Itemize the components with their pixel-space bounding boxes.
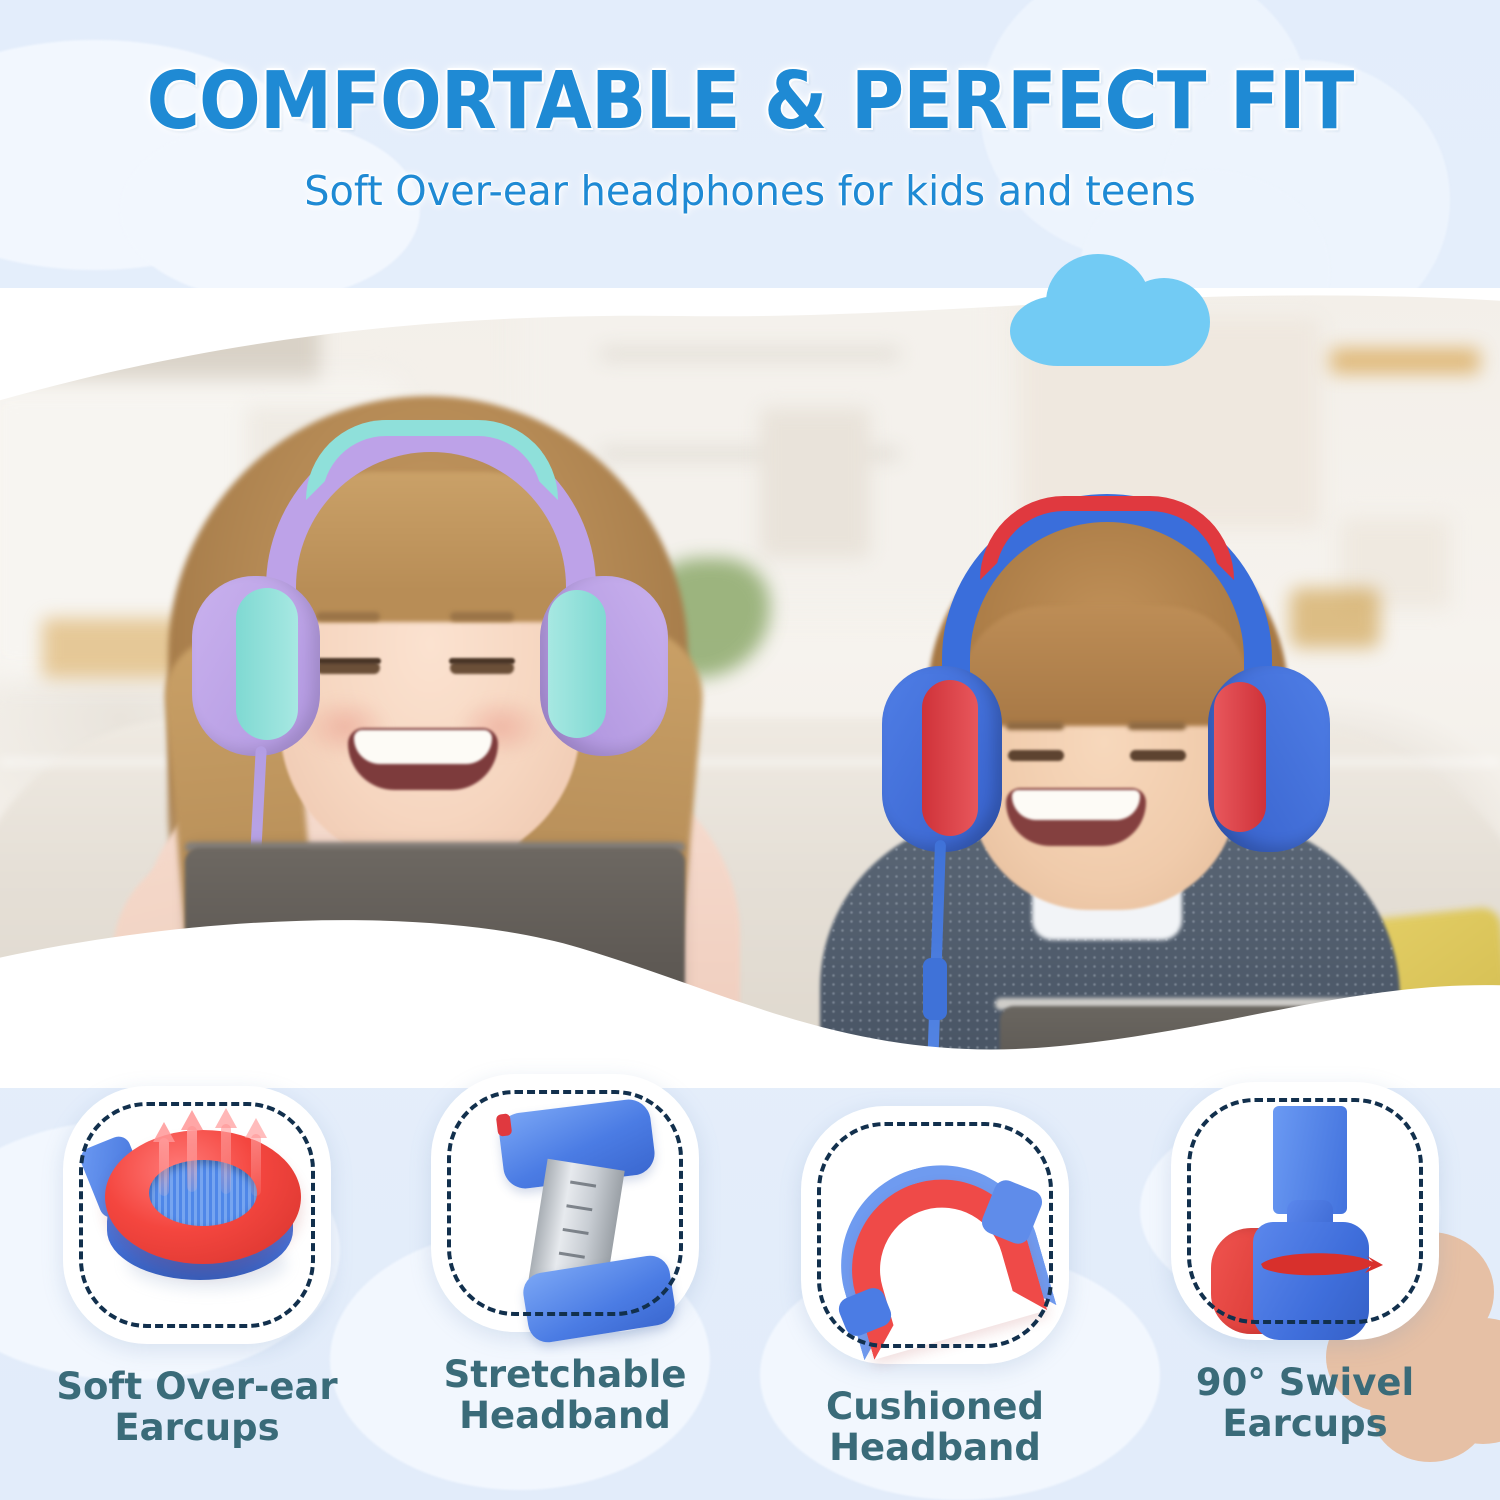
page-subtitle: Soft Over-ear headphones for kids and te… (23, 141, 1478, 215)
feature-item-stretchable-headband: Stretchable Headband (400, 1074, 730, 1437)
feature-label: Stretchable Headband (400, 1354, 730, 1437)
boy-headphone-band-accent (980, 496, 1234, 580)
feature-badge (801, 1106, 1069, 1364)
boy-earpad-right (1214, 682, 1266, 832)
girl-teeth (354, 730, 492, 764)
boy-eyebrow (1006, 722, 1064, 730)
girl-eyelash (449, 658, 515, 664)
girl-eyelash (315, 658, 381, 664)
feature-badge (63, 1086, 331, 1344)
boy-earpad-left (922, 680, 978, 836)
feature-badge (1171, 1082, 1439, 1340)
feature-label-line1: Stretchable (400, 1354, 730, 1395)
feature-item-soft-earcups: Soft Over-ear Earcups (32, 1086, 362, 1449)
header: COMFORTABLE & PERFECT FIT Soft Over-ear … (0, 0, 1500, 300)
hero-photo (0, 288, 1500, 1088)
feature-label: Soft Over-ear Earcups (32, 1366, 362, 1449)
feature-label: 90° Swivel Earcups (1140, 1362, 1470, 1445)
feature-item-swivel-earcups: 90° Swivel Earcups (1140, 1082, 1470, 1445)
feature-label-line1: Soft Over-ear (32, 1366, 362, 1407)
feature-label-line2: Earcups (1140, 1403, 1470, 1444)
badge-dashed-outline (79, 1102, 315, 1328)
feature-badge (431, 1074, 699, 1332)
feature-label-line2: Headband (770, 1427, 1100, 1468)
girl-earpad-right (548, 590, 606, 738)
feature-label-line2: Headband (400, 1395, 730, 1436)
boy-eye (1008, 750, 1064, 761)
boy-eyebrow (1128, 722, 1186, 730)
girl-mouth (348, 728, 498, 790)
badge-dashed-outline (817, 1122, 1053, 1348)
wave-divider-bottom (0, 900, 1500, 1088)
feature-label-line1: 90° Swivel (1140, 1362, 1470, 1403)
feature-item-cushioned-headband: Cushioned Headband (770, 1106, 1100, 1469)
wave-divider-top (0, 288, 1500, 436)
feature-label: Cushioned Headband (770, 1386, 1100, 1469)
page-title: COMFORTABLE & PERFECT FIT (60, 0, 1440, 141)
marketing-banner: COMFORTABLE & PERFECT FIT Soft Over-ear … (0, 0, 1500, 1500)
feature-label-line1: Cushioned (770, 1386, 1100, 1427)
boy-mouth (1006, 788, 1146, 846)
boy-teeth (1012, 790, 1140, 820)
badge-dashed-outline (1187, 1098, 1423, 1324)
girl-earpad-left (236, 588, 298, 740)
feature-label-line2: Earcups (32, 1407, 362, 1448)
badge-dashed-outline (447, 1090, 683, 1316)
boy-eye (1130, 750, 1186, 761)
feature-row: Soft Over-ear Earcups (0, 1070, 1500, 1500)
